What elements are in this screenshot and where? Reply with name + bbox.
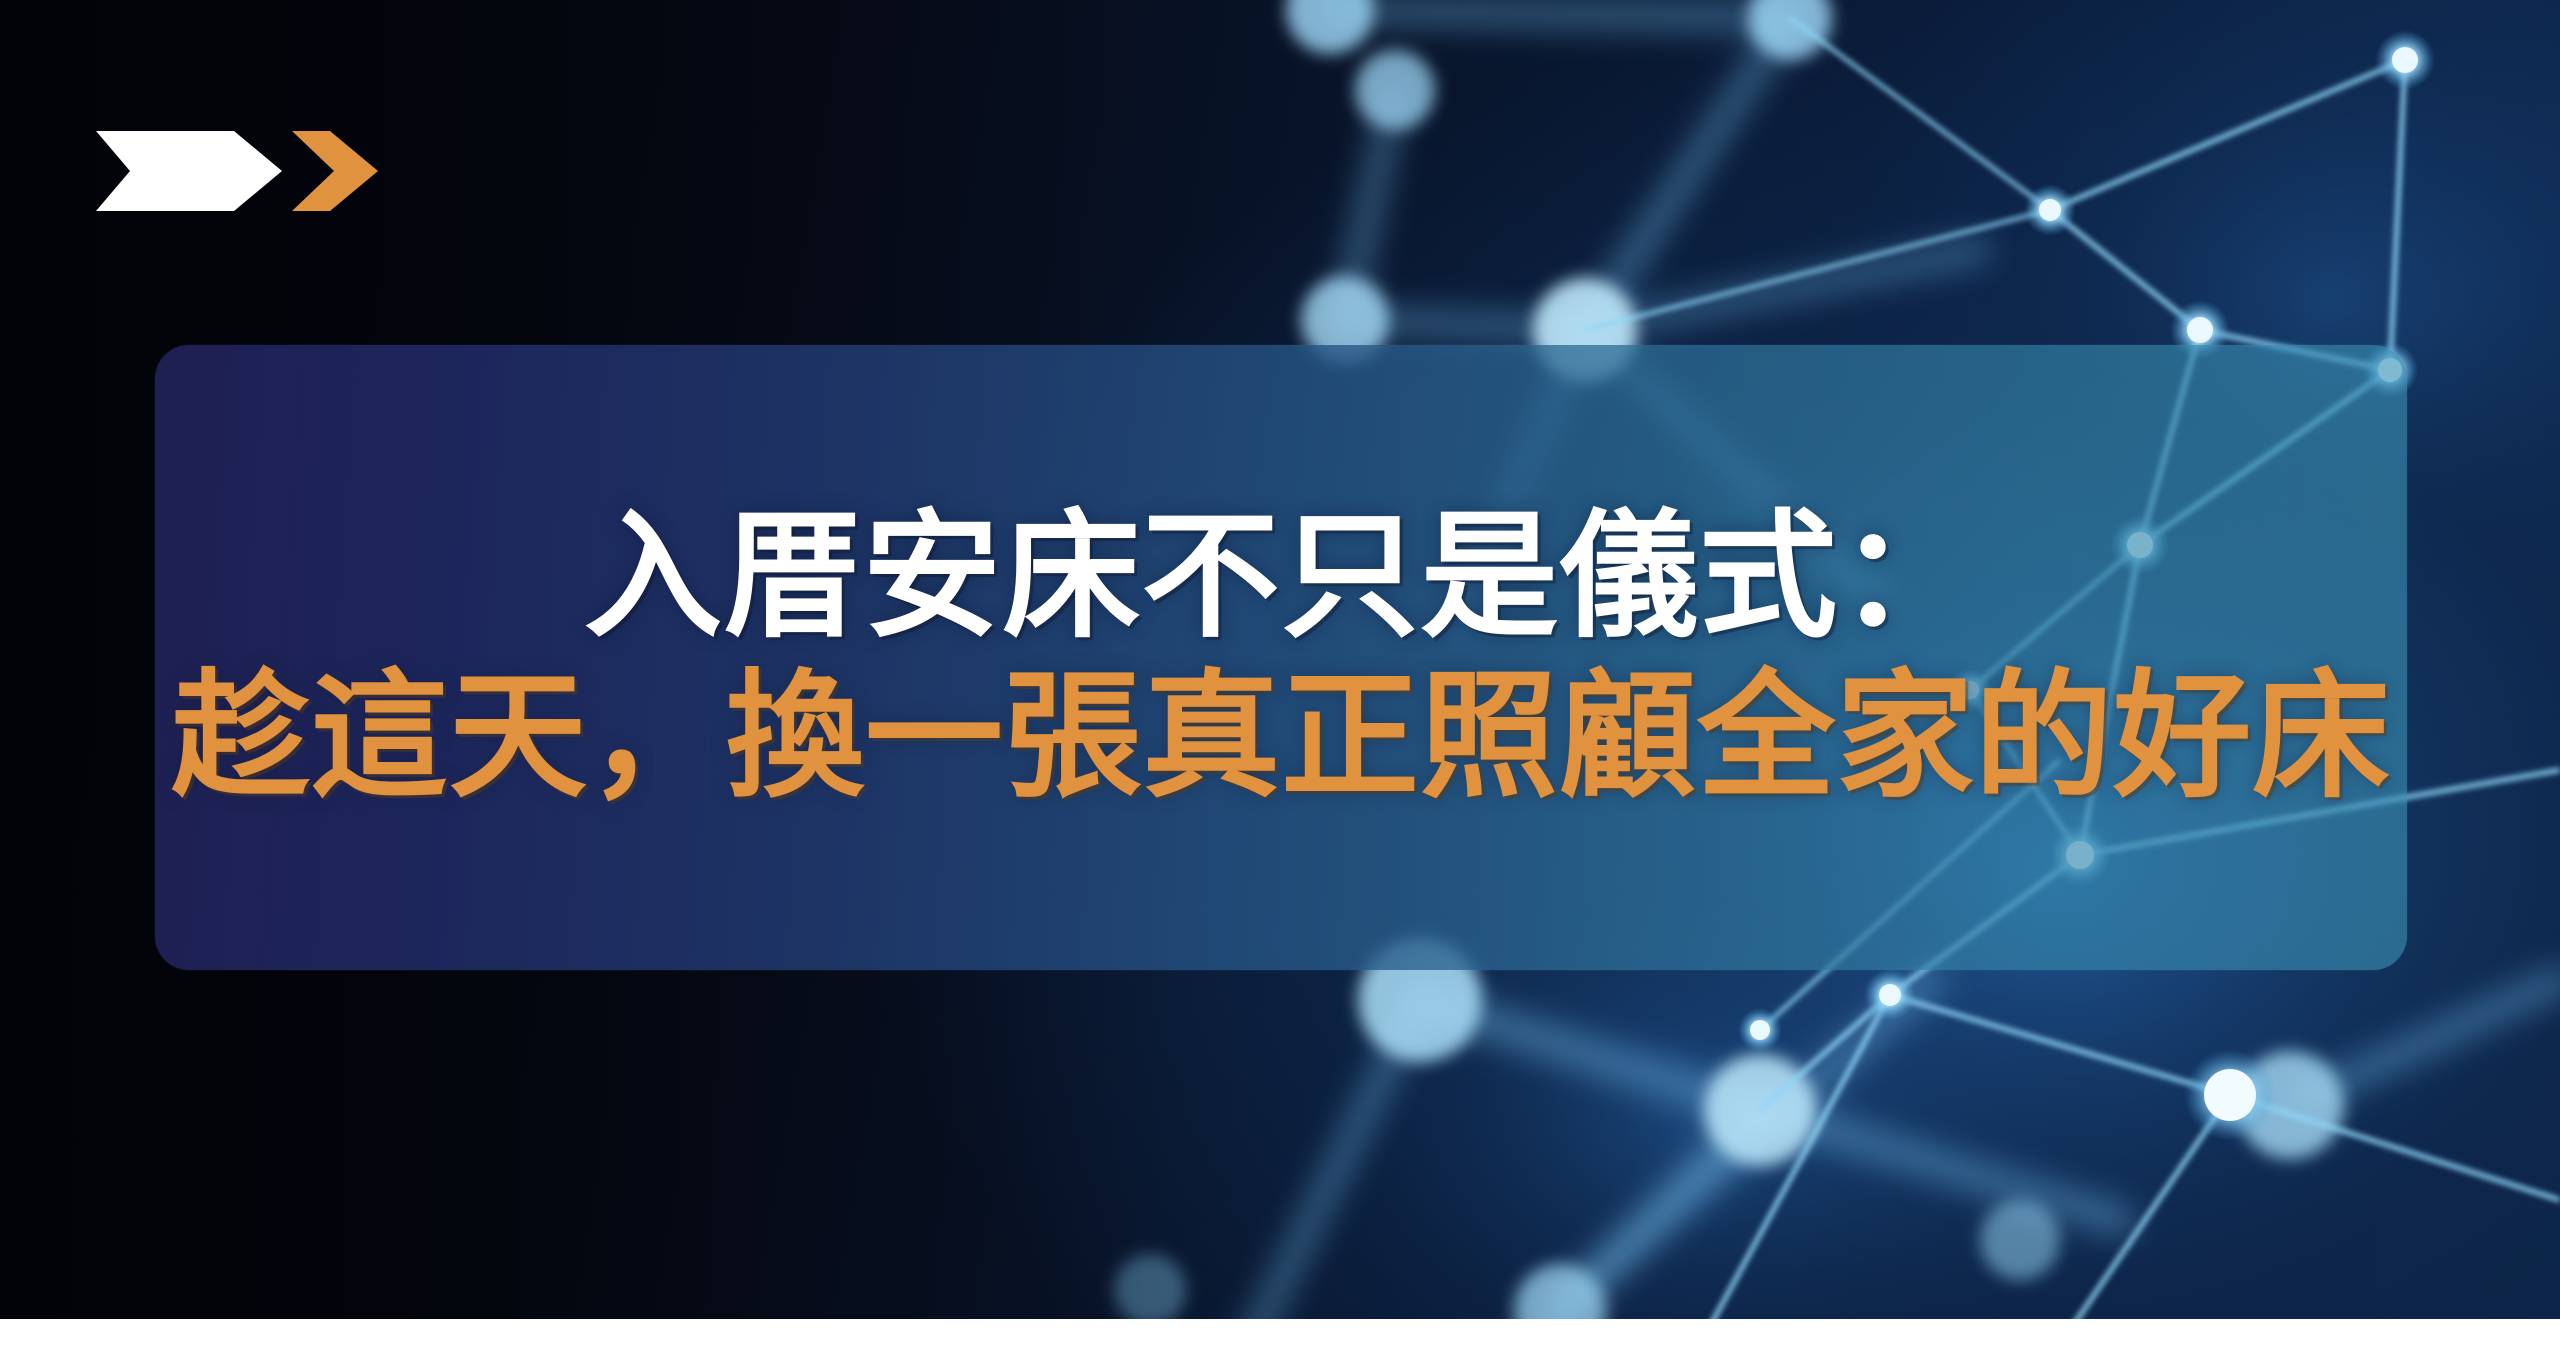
promotional-banner: 入厝安床不只是儀式： 趁這天，換一張真正照顧全家的好床	[0, 0, 2560, 1345]
white-chevron-icon	[96, 131, 282, 211]
bottom-white-bar	[0, 1319, 2560, 1345]
orange-chevron-icon	[292, 131, 378, 211]
headline-line-2: 趁這天，換一張真正照顧全家的好床	[171, 669, 2390, 807]
brand-logo[interactable]	[96, 125, 386, 217]
headline-line-1: 入厝安床不只是儀式：	[584, 509, 1978, 647]
headline-card: 入厝安床不只是儀式： 趁這天，換一張真正照顧全家的好床	[155, 345, 2407, 970]
